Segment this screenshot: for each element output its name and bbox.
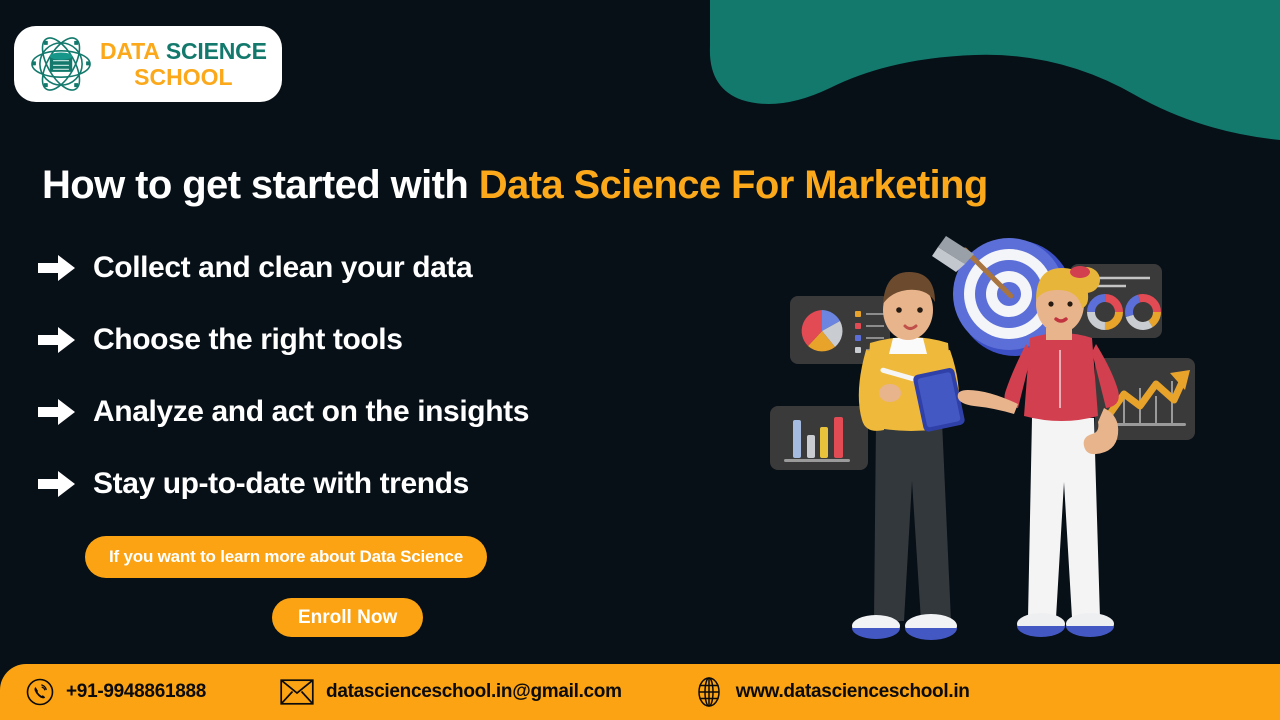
footer-website[interactable]: www.datascienceschool.in — [694, 677, 970, 707]
pie-chart-card — [790, 296, 890, 364]
bullseye-target-with-arrow — [932, 236, 1073, 356]
arrow-right-icon — [38, 397, 76, 427]
arrow-right-icon — [38, 469, 76, 499]
footer-website-label: www.datascienceschool.in — [736, 681, 970, 703]
arrow-right-icon — [38, 253, 76, 283]
globe-icon — [694, 677, 724, 707]
poster: DATA SCIENCE SCHOOL How to get started w… — [0, 0, 1280, 720]
list-item: Collect and clean your data — [38, 232, 718, 304]
list-item-label: Collect and clean your data — [93, 251, 472, 285]
list-item: Choose the right tools — [38, 304, 718, 376]
brand-name-data: DATA — [100, 38, 160, 64]
database-cylinder — [50, 52, 72, 71]
list-item-label: Stay up-to-date with trends — [93, 467, 469, 501]
brand-name-science: SCIENCE — [166, 38, 267, 64]
contact-footer: +91-9948861888 datascienceschool.in@gmai… — [0, 664, 1280, 720]
page-title: How to get started with Data Science For… — [42, 163, 988, 208]
growth-arrow-chart-card — [1095, 358, 1195, 440]
atom-database-icon — [28, 31, 94, 97]
bar-chart-card — [770, 406, 868, 470]
teal-wave-decoration — [680, 0, 1280, 140]
list-item-label: Choose the right tools — [93, 323, 403, 357]
woman-presenting — [958, 266, 1119, 637]
learn-more-button[interactable]: If you want to learn more about Data Sci… — [85, 536, 487, 578]
headline-accent: Data Science For Marketing — [479, 163, 988, 207]
footer-email-label: datascienceschool.in@gmail.com — [326, 681, 622, 703]
arrow-right-icon — [38, 325, 76, 355]
benefits-list: Collect and clean your data Choose the r… — [38, 232, 718, 520]
brand-logo[interactable]: DATA SCIENCE SCHOOL — [14, 26, 282, 102]
data-analytics-team-illustration — [760, 228, 1270, 648]
enroll-now-button[interactable]: Enroll Now — [272, 598, 423, 637]
man-with-tablet — [852, 272, 966, 640]
headline-plain: How to get started with — [42, 163, 479, 207]
envelope-icon — [280, 679, 314, 705]
brand-name-school: SCHOOL — [134, 64, 232, 90]
phone-ring-icon — [26, 678, 54, 706]
brand-wordmark: DATA SCIENCE SCHOOL — [100, 40, 267, 89]
footer-phone[interactable]: +91-9948861888 — [26, 678, 206, 706]
list-item-label: Analyze and act on the insights — [93, 395, 529, 429]
list-item: Stay up-to-date with trends — [38, 448, 718, 520]
footer-email[interactable]: datascienceschool.in@gmail.com — [280, 679, 622, 705]
donut-chart-card — [1070, 264, 1162, 338]
footer-phone-label: +91-9948861888 — [66, 681, 206, 703]
list-item: Analyze and act on the insights — [38, 376, 718, 448]
